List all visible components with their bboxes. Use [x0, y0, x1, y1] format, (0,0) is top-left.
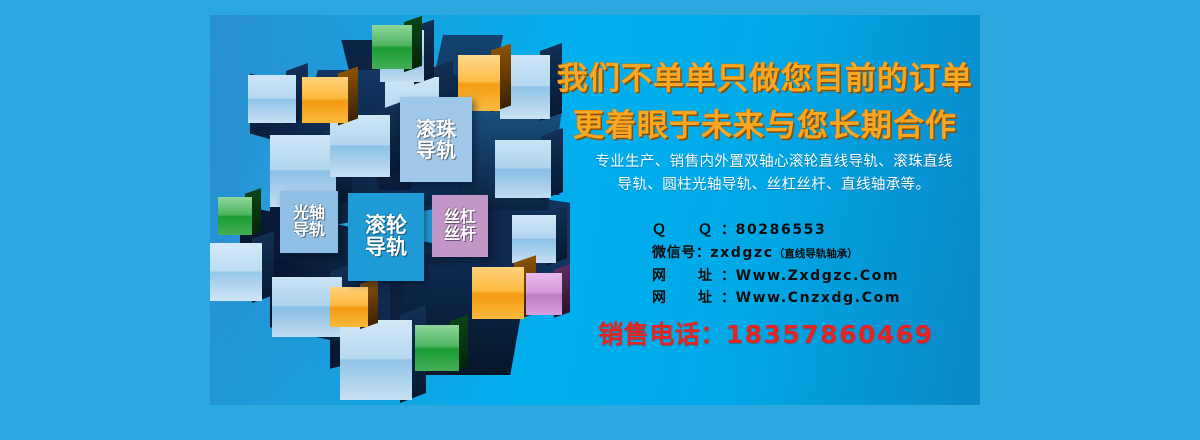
cube-orange: [472, 267, 524, 319]
product-label-gunlun-daogui[interactable]: 滚轮 导轨: [348, 193, 424, 281]
contact-separator: ：: [721, 222, 736, 238]
contact-label: Ｑ Ｑ: [652, 219, 721, 242]
headline-line-1: 我们不单单只做您目前的订单: [550, 53, 980, 98]
headline-line-2: 更着眼于未来与您长期合作: [550, 100, 980, 145]
contact-row-qq[interactable]: Ｑ Ｑ：80286553: [652, 219, 901, 242]
product-label-line2: 丝杆: [444, 226, 476, 243]
contact-value: Www.Cnzxdg.Com: [736, 290, 901, 306]
contact-note: （直线导轨轴承）: [774, 248, 858, 260]
product-label-sigang-sigan[interactable]: 丝杠 丝杆: [432, 195, 488, 257]
cube-orange: [330, 287, 368, 327]
contact-block: Ｑ Ｑ：80286553 微信号：zxdgzc（直线导轨轴承） 网 址：Www.…: [652, 219, 901, 310]
cube-blue: [210, 243, 262, 301]
promo-banner: 滚珠 导轨 光轴 导轨 滚轮 导轨 丝杠 丝杆 我们不单单只做您目前的订单 更着…: [210, 15, 980, 405]
contact-value: zxdgzc: [710, 245, 773, 261]
contact-row-wechat[interactable]: 微信号：zxdgzc（直线导轨轴承）: [652, 242, 901, 265]
contact-label: 微信号: [652, 242, 696, 265]
contact-separator: ：: [696, 245, 711, 261]
cube-green: [218, 197, 252, 235]
banner-page: 滚珠 导轨 光轴 导轨 滚轮 导轨 丝杠 丝杆 我们不单单只做您目前的订单 更着…: [0, 0, 1200, 440]
sales-phone[interactable]: 销售电话：18357860469: [566, 315, 966, 351]
cube-blue: [495, 140, 551, 198]
contact-label: 网 址: [652, 265, 721, 288]
product-label-line2: 导轨: [365, 237, 407, 259]
banner-copy: 我们不单单只做您目前的订单 更着眼于未来与您长期合作 专业生产、销售内外置双轴心…: [550, 15, 980, 405]
product-label-gunzhu-daogui[interactable]: 滚珠 导轨: [400, 97, 472, 182]
contact-row-website-1[interactable]: 网 址：Www.Zxdgzc.Com: [652, 265, 901, 288]
company-description: 专业生产、销售内外置双轴心滚轮直线导轨、滚珠直线导轨、圆柱光轴导轨、丝杠丝杆、直…: [588, 151, 960, 198]
cube-blue: [248, 75, 296, 123]
contact-value: 80286553: [736, 222, 827, 238]
contact-row-website-2[interactable]: 网 址：Www.Cnzxdg.Com: [652, 287, 901, 310]
contact-separator: ：: [721, 268, 736, 284]
cube-green: [372, 25, 412, 69]
product-label-guangzhou-daogui[interactable]: 光轴 导轨: [280, 191, 338, 253]
cube-cluster-graphic: 滚珠 导轨 光轴 导轨 滚轮 导轨 丝杠 丝杆: [210, 15, 560, 405]
cube-blue: [340, 320, 412, 400]
product-label-line2: 导轨: [416, 140, 456, 161]
product-label-line2: 导轨: [293, 222, 325, 239]
contact-value: Www.Zxdgzc.Com: [736, 268, 900, 284]
cube-green: [415, 325, 459, 371]
sales-phone-number: 18357860469: [726, 320, 934, 349]
cube-orange: [302, 77, 348, 123]
contact-label: 网 址: [652, 287, 721, 310]
product-label-line1: 滚轮: [365, 215, 407, 237]
product-label-line1: 滚珠: [416, 119, 456, 140]
sales-phone-label: 销售电话：: [598, 320, 726, 349]
contact-separator: ：: [721, 290, 736, 306]
